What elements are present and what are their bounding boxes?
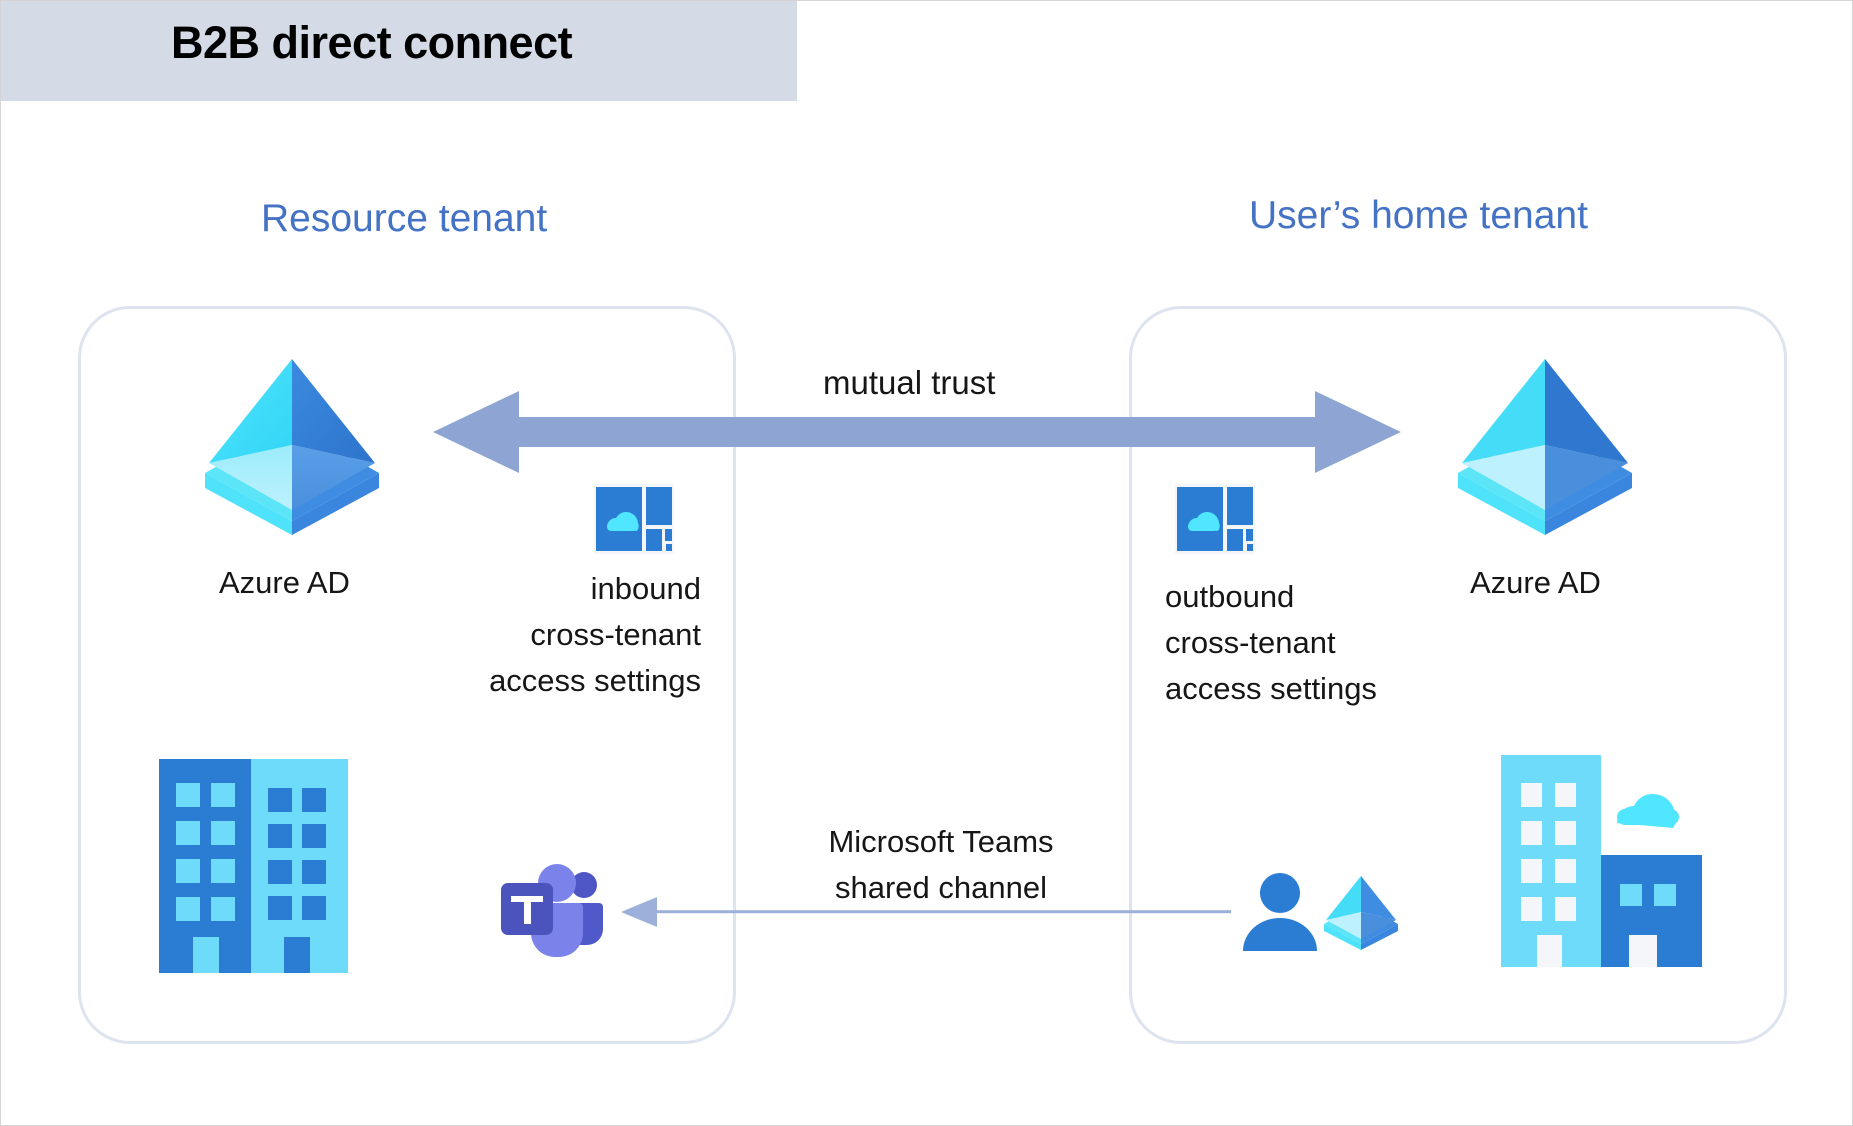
settings-label-line-3: access settings bbox=[401, 658, 701, 704]
azure-ad-pyramid-icon bbox=[197, 353, 387, 538]
settings-label-line-1: outbound bbox=[1165, 574, 1485, 620]
settings-label-line-2: cross-tenant bbox=[1165, 620, 1485, 666]
office-buildings-cloud-icon bbox=[1489, 743, 1714, 975]
azure-ad-label: Azure AD bbox=[1470, 560, 1601, 606]
inbound-cross-tenant-access-settings-label: inbound cross-tenant access settings bbox=[401, 566, 701, 704]
azure-ad-pyramid-icon bbox=[1321, 873, 1401, 951]
person-icon bbox=[1241, 871, 1319, 953]
user-home-tenant-heading: User’s home tenant bbox=[1249, 194, 1588, 238]
cloud-tiles-icon bbox=[593, 483, 675, 555]
teams-channel-line-1: Microsoft Teams bbox=[791, 819, 1091, 865]
cloud-tiles-icon bbox=[1174, 483, 1256, 555]
azure-ad-pyramid-icon bbox=[1450, 353, 1640, 538]
teams-channel-line-2: shared channel bbox=[791, 865, 1091, 911]
resource-tenant-heading: Resource tenant bbox=[261, 197, 547, 241]
mutual-trust-label: mutual trust bbox=[823, 364, 995, 402]
outbound-cross-tenant-access-settings-label: outbound cross-tenant access settings bbox=[1165, 574, 1485, 712]
settings-label-line-2: cross-tenant bbox=[401, 612, 701, 658]
settings-label-line-3: access settings bbox=[1165, 666, 1485, 712]
microsoft-teams-icon bbox=[499, 859, 605, 959]
office-buildings-icon bbox=[151, 751, 356, 979]
diagram-canvas: B2B direct connect Resource tenant User’… bbox=[0, 0, 1853, 1126]
teams-shared-channel-label: Microsoft Teams shared channel bbox=[791, 819, 1091, 911]
page-title: B2B direct connect bbox=[171, 17, 572, 69]
azure-ad-label: Azure AD bbox=[219, 560, 350, 606]
settings-label-line-1: inbound bbox=[401, 566, 701, 612]
